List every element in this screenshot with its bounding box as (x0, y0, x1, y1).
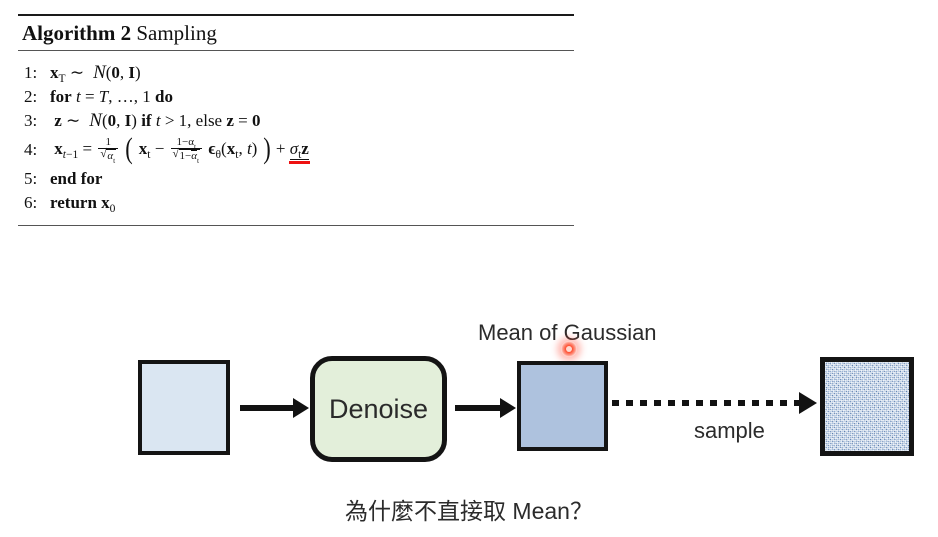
line-2-content: for t = T, …, 1 do (50, 87, 173, 107)
token-rparen-2: ) (131, 111, 137, 130)
keyword-end-for: end for (50, 169, 102, 189)
denoise-box: Denoise (310, 356, 447, 462)
token-comma-4: , (116, 111, 120, 130)
algorithm-bottom-rule (18, 225, 574, 226)
line-3-content: z ∼ N(0, I) if t > 1, else z = 0 (50, 110, 261, 132)
algorithm-line-1: 1: xT ∼ N(0, I) (24, 61, 574, 85)
token-rparen: ) (135, 63, 141, 82)
fraction2-denominator: 1−αt (171, 149, 203, 162)
token-one-sub: 1 (72, 148, 78, 161)
token-comma-3: , (134, 87, 138, 106)
line-number-6: 6: (24, 193, 50, 213)
line-1-content: xT ∼ N(0, I) (50, 62, 141, 84)
fraction-denominator: αt (98, 149, 118, 162)
fraction-numerator: 1 (104, 136, 114, 148)
token-z-2: z (226, 111, 234, 130)
keyword-do: do (155, 87, 173, 106)
token-z-3: z (301, 139, 309, 158)
noisy-input-square (138, 360, 230, 455)
big-left-paren: ( (126, 132, 134, 166)
highlighted-sigma-z-term: σtz (290, 139, 309, 160)
arrow-input-to-denoise (240, 405, 294, 411)
token-x: x (50, 63, 59, 82)
fraction-one-over-sqrt-alpha: 1 αt (98, 136, 118, 163)
token-comma-2: , (108, 87, 112, 106)
denoise-label: Denoise (329, 394, 428, 425)
token-x-2: x (54, 139, 63, 158)
token-rparen-3: ) (252, 139, 258, 158)
keyword-if: if (141, 111, 151, 130)
line-number-2: 2: (24, 87, 50, 107)
algorithm-block: Algorithm 2 Sampling 1: xT ∼ N(0, I) 2: … (18, 14, 574, 226)
token-comma: , (120, 63, 124, 82)
token-t-2: t (156, 111, 161, 130)
slide-caption: 為什麼不直接取 Mean？ (0, 492, 938, 526)
sqrt-one-minus-alphabar: 1−αt (173, 149, 201, 162)
mean-of-gaussian-label: Mean of Gaussian (478, 320, 657, 346)
token-alpha-sub-t: t (113, 156, 115, 165)
token-bold-zero: 0 (111, 63, 120, 82)
fraction2-numerator: 1−αt (175, 136, 199, 148)
algorithm-line-3: 3: z ∼ N(0, I) if t > 1, else z = 0 (24, 109, 574, 133)
algorithm-line-5: 5: end for (24, 167, 574, 191)
algorithm-title-name: Sampling (136, 21, 217, 45)
token-bold-zero-3: 0 (252, 111, 261, 130)
token-eq-3: = (83, 139, 93, 158)
line-6-content: return x0 (50, 193, 115, 213)
sqrt2-radicand: 1−αt (179, 149, 201, 162)
line-number-5: 5: (24, 169, 50, 189)
dotted-sample-arrow (612, 400, 800, 406)
laser-pointer-dot (561, 341, 577, 357)
token-x-4: x (227, 139, 236, 158)
algorithm-line-6: 6: return x0 (24, 191, 574, 215)
token-epsilon: ϵ (208, 139, 215, 158)
token-z: z (54, 111, 62, 130)
token-theta-sub: θ (216, 148, 222, 161)
token-x-5: x (101, 193, 110, 212)
token-sim: ∼ (70, 63, 84, 82)
sqrt-radicand: αt (106, 149, 116, 162)
token-one-minus-alpha: 1−α (177, 136, 194, 148)
token-dots: … (117, 87, 134, 106)
sample-label: sample (694, 418, 765, 444)
slide-canvas: Algorithm 2 Sampling 1: xT ∼ N(0, I) 2: … (0, 0, 938, 537)
token-comma-6: , (238, 139, 242, 158)
token-minus: − (155, 139, 165, 158)
token-one-2: 1 (179, 111, 188, 130)
line-number-4: 4: (24, 140, 50, 160)
token-alphabar-sub-t: t (197, 156, 199, 165)
token-eq: = (85, 87, 95, 106)
sqrt-alpha-t: αt (100, 149, 116, 162)
line-number-1: 1: (24, 63, 50, 83)
keyword-else: else (196, 111, 222, 130)
token-plus: + (276, 139, 286, 158)
token-T: T (99, 87, 108, 106)
token-sigma-sub-t: t (298, 148, 301, 161)
mean-output-square (517, 361, 608, 451)
arrow-denoise-to-mean (455, 405, 501, 411)
token-bold-zero-2: 0 (108, 111, 117, 130)
big-right-paren: ) (263, 132, 271, 166)
token-T-sub: T (59, 72, 66, 85)
noise-texture (825, 362, 909, 451)
token-x-sub-t-2: t (235, 148, 238, 161)
algorithm-body: 1: xT ∼ N(0, I) 2: for t = T, …, 1 do (18, 51, 574, 225)
token-x-sub-zero: 0 (110, 202, 116, 215)
keyword-for: for (50, 87, 72, 106)
token-x-sub-t: t (147, 148, 150, 161)
sampled-noise-square (820, 357, 914, 456)
line-4-content: xt−1 = 1 αt ( xt − 1−αt 1−αt (50, 133, 309, 167)
token-eq-2: = (238, 111, 248, 130)
token-cal-N-2: N (85, 110, 102, 131)
token-comma-5: , (187, 111, 191, 130)
fraction-one-minus-alpha-over-sqrt: 1−αt 1−αt (171, 136, 203, 163)
token-cal-N: N (88, 62, 105, 83)
subscript-t-minus-1: t−1 (63, 148, 79, 161)
token-x-3: x (139, 139, 148, 158)
keyword-return: return (50, 193, 97, 212)
algorithm-line-4: 4: xt−1 = 1 αt ( xt − 1−αt 1−α (24, 133, 574, 167)
token-sim-2: ∼ (66, 111, 80, 130)
token-t: t (76, 87, 81, 106)
algorithm-title-label: Algorithm 2 (22, 21, 131, 45)
algorithm-title: Algorithm 2 Sampling (18, 16, 574, 50)
token-sigma: σ (290, 139, 298, 158)
token-gt: > (165, 111, 175, 130)
line-number-3: 3: (24, 111, 50, 131)
algorithm-line-2: 2: for t = T, …, 1 do (24, 85, 574, 109)
token-one-minus: 1− (180, 150, 192, 162)
token-one: 1 (142, 87, 151, 106)
